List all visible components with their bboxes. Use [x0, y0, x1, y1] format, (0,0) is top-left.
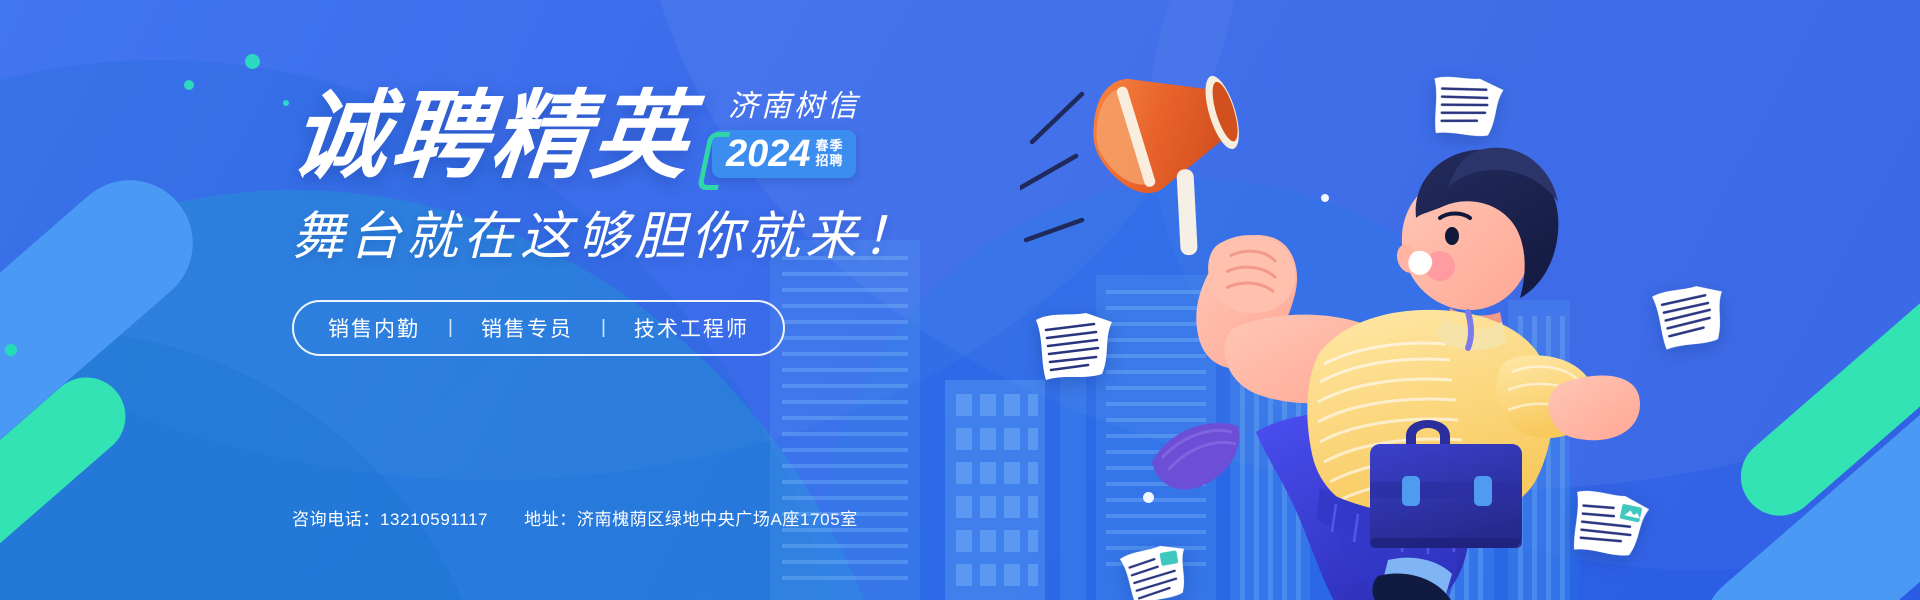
role-item-2[interactable]: 销售专员 [481, 313, 573, 343]
job-roles-pill: 销售内勤 | 销售专员 | 技术工程师 [292, 300, 785, 356]
role-separator-1: | [420, 317, 481, 339]
headline-row: 诚聘精英 济南树信 2024 春季 招聘 [292, 88, 1052, 186]
role-item-3[interactable]: 技术工程师 [634, 313, 749, 343]
role-item-1[interactable]: 销售内勤 [328, 313, 420, 343]
brand-badge-group: 济南树信 2024 春季 招聘 [712, 92, 860, 178]
decor-dot-teal-medium [184, 80, 194, 90]
address-label: 地址： [524, 510, 577, 529]
decor-dot-teal-left-edge [5, 344, 17, 356]
badge-subtext: 春季 招聘 [816, 139, 844, 168]
decor-dot-teal-large [245, 54, 260, 69]
phone-label: 咨询电话： [292, 510, 380, 529]
businessman-illustration [1020, 60, 1640, 600]
phone-group: 咨询电话：13210591117 [292, 505, 488, 530]
role-separator-2: | [573, 317, 634, 339]
phone-number[interactable]: 13210591117 [380, 510, 488, 529]
resume-paper-right [1646, 281, 1733, 364]
brand-name: 济南树信 [712, 92, 860, 122]
contact-info: 咨询电话：13210591117 地址：济南槐荫区绿地中央广场A座1705室 [292, 505, 858, 530]
copy-block: 诚聘精英 济南树信 2024 春季 招聘 舞台就在这够胆你就来！ 销售内勤 | … [292, 88, 1052, 356]
address-value: 济南槐荫区绿地中央广场A座1705室 [577, 510, 858, 529]
badge-sub-line1: 春季 [816, 139, 844, 154]
subheadline: 舞台就在这够胆你就来！ [292, 208, 1052, 266]
badge-year: 2024 [726, 135, 811, 173]
badge-sub-line2: 招聘 [816, 154, 844, 169]
recruitment-banner: 诚聘精英 济南树信 2024 春季 招聘 舞台就在这够胆你就来！ 销售内勤 | … [0, 0, 1920, 600]
year-badge: 2024 春季 招聘 [712, 130, 856, 178]
decor-dot-teal-small [283, 100, 289, 106]
address-group: 地址：济南槐荫区绿地中央广场A座1705室 [524, 505, 858, 530]
page-title: 诚聘精英 [287, 88, 697, 186]
